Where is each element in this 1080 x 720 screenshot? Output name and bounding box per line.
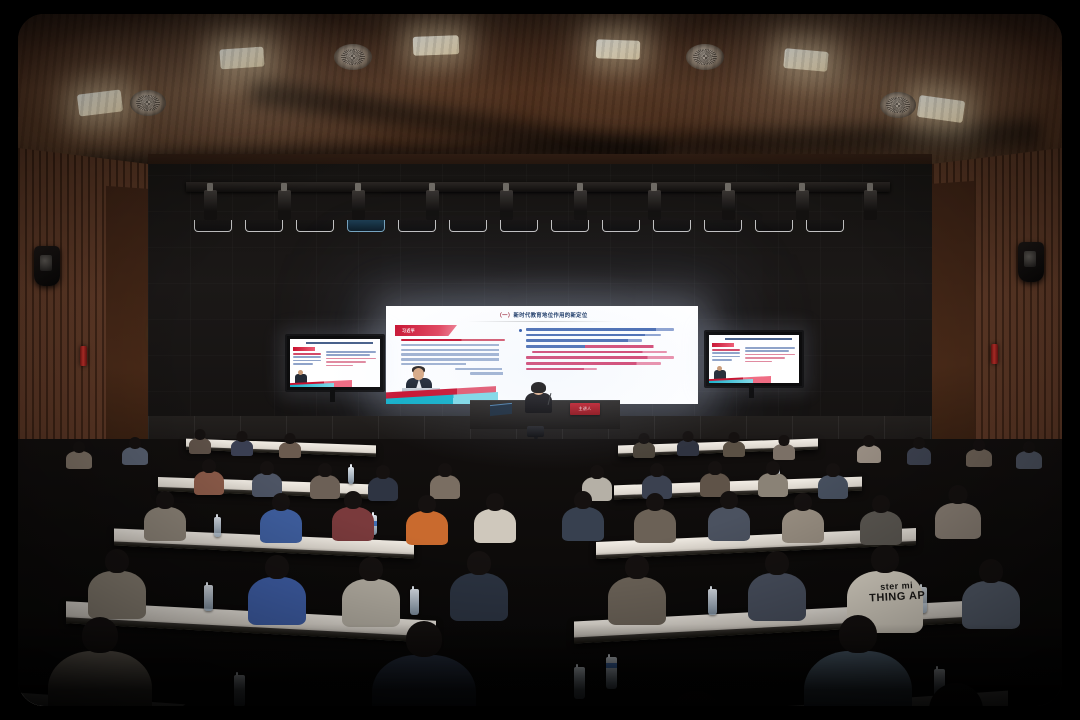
audience-member	[124, 437, 146, 463]
water-bottle	[204, 585, 213, 611]
person-head	[195, 429, 206, 440]
quote-line	[401, 358, 505, 360]
truss-fixture	[204, 190, 217, 220]
audience-member	[94, 549, 140, 615]
mini-portrait-head	[717, 366, 722, 371]
ceiling-vent-1	[130, 90, 166, 116]
person-body	[962, 581, 1020, 629]
person-body	[677, 440, 699, 456]
slide-title-text: 新时代教育地位作用的新定位	[514, 313, 588, 319]
stage-lightbar	[296, 220, 334, 232]
name-placard-text: 主讲人	[570, 403, 600, 415]
quote-line	[401, 339, 505, 341]
mini-line	[293, 356, 321, 358]
stage-lightbar	[194, 220, 232, 232]
person-body	[66, 451, 92, 469]
person-head	[729, 432, 740, 443]
person-head	[467, 551, 491, 575]
person-body	[279, 442, 301, 458]
video-camera-icon	[527, 426, 544, 437]
quote-line	[401, 344, 505, 346]
audience-member	[432, 463, 458, 497]
person-body	[708, 507, 750, 541]
person-head	[794, 493, 812, 511]
ceiling-vent-3	[686, 44, 724, 70]
mini-portrait-body	[714, 370, 726, 379]
audience-member	[724, 432, 744, 456]
bullet-dot-icon	[519, 329, 522, 332]
right-monitor-content	[709, 335, 799, 383]
mini-quote-banner	[293, 347, 315, 351]
stage-lightbar	[602, 220, 640, 232]
person-head	[344, 491, 362, 509]
quote-banner: 习近平	[395, 325, 457, 336]
person-body	[758, 473, 788, 497]
ceiling-light-1	[77, 89, 123, 116]
mini-line	[326, 351, 376, 353]
person-body	[723, 441, 745, 457]
conference-hall-photo: ⇥ ⇥	[18, 14, 1062, 706]
person-body	[966, 449, 992, 467]
person-body	[194, 471, 224, 495]
person-head	[683, 431, 694, 442]
person-head	[639, 433, 650, 444]
ceiling-vent-2	[334, 44, 372, 70]
person-head	[105, 549, 129, 573]
person-head	[779, 435, 790, 446]
person-body	[782, 509, 824, 543]
person-head	[766, 461, 780, 475]
audience-member	[864, 495, 898, 543]
audience-member	[1018, 441, 1040, 467]
truss-fixture	[278, 190, 291, 220]
truss-fixture	[796, 190, 809, 220]
person-body	[562, 507, 604, 541]
person-body	[818, 475, 848, 499]
wall-speaker-right	[1018, 242, 1044, 282]
presenter-hair	[531, 382, 546, 393]
right-confidence-monitor[interactable]	[704, 330, 804, 388]
truss-fixture	[500, 190, 513, 220]
audience-member	[410, 495, 444, 543]
mini-line	[712, 356, 740, 358]
person-head	[590, 465, 604, 479]
person-head	[359, 557, 383, 581]
stage-lightbar	[653, 220, 691, 232]
person-head	[826, 463, 840, 477]
person-body	[860, 511, 902, 545]
fire-extinguisher-right	[991, 344, 998, 364]
audience-member	[858, 435, 880, 461]
person-body	[935, 503, 981, 539]
mini-line	[745, 357, 785, 359]
person-head	[872, 495, 890, 513]
truss-fixture	[352, 190, 365, 220]
ceiling-light-6	[917, 95, 966, 123]
audience-member	[774, 435, 794, 459]
person-body	[231, 440, 253, 456]
ceiling-vent-4	[880, 92, 916, 118]
stage-lightbar	[500, 220, 538, 232]
presenter-laptop	[490, 403, 512, 416]
person-head	[979, 559, 1003, 583]
audience-member	[638, 493, 672, 541]
mini-line	[326, 358, 376, 360]
stage-lightbar	[551, 220, 589, 232]
audience-member	[456, 551, 502, 617]
mini-left-column	[293, 353, 321, 367]
person-head	[765, 551, 789, 575]
person-head	[418, 495, 436, 513]
person-body	[368, 477, 398, 501]
mini-line	[745, 347, 795, 349]
water-bottle	[348, 467, 354, 484]
slide-title-number: （一）	[496, 313, 513, 319]
person-head	[318, 463, 332, 477]
person-head	[260, 461, 274, 475]
slide-text-line	[526, 334, 661, 337]
mini-slide-title	[725, 338, 792, 340]
slide-quote-card: 习近平	[395, 325, 511, 397]
audience-member	[634, 433, 654, 457]
person-head	[129, 437, 141, 449]
slide-text-line	[532, 351, 667, 354]
audience-member	[348, 557, 394, 623]
audience-member	[702, 461, 728, 495]
audience-member	[68, 441, 90, 467]
mini-line	[712, 349, 740, 351]
stage-lightbar	[398, 220, 436, 232]
right-monitor-mount	[749, 384, 754, 398]
audience-member	[754, 551, 800, 617]
person-body	[332, 507, 374, 541]
audience-member	[264, 493, 298, 541]
mini-line	[293, 353, 321, 355]
person-head	[1023, 441, 1035, 453]
mini-left-column	[712, 349, 740, 363]
slide-bullet-1	[526, 328, 687, 342]
audience-member	[968, 439, 990, 465]
audience-member	[786, 493, 820, 541]
person-head	[265, 555, 289, 579]
person-body	[144, 507, 186, 541]
name-placard: 主讲人	[570, 403, 600, 415]
mini-quote-banner	[712, 343, 734, 347]
person-body	[248, 577, 306, 625]
truss-fixture	[722, 190, 735, 220]
slide-text-line	[526, 328, 674, 331]
person-body	[189, 438, 211, 454]
quote-line	[401, 353, 505, 355]
person-body	[260, 509, 302, 543]
quote-attribution-line	[470, 372, 505, 374]
mini-portrait	[293, 369, 310, 383]
audience-member	[280, 433, 300, 457]
person-head	[949, 485, 968, 504]
audience-floor: ster mi THING AP	[18, 439, 1062, 706]
mini-portrait	[712, 365, 729, 379]
audience-member	[820, 463, 846, 497]
stage-lightbar	[245, 220, 283, 232]
audience-member	[370, 465, 396, 499]
audience-member	[678, 431, 698, 455]
ceiling-light-5	[783, 48, 829, 72]
audience-member	[254, 461, 280, 495]
person-head	[237, 431, 248, 442]
presenter	[518, 382, 558, 414]
mini-portrait-body	[295, 374, 307, 383]
audience-member	[478, 493, 512, 541]
screenshot-root: ⇥ ⇥	[0, 0, 1080, 720]
person-body	[634, 509, 676, 543]
mini-line	[712, 352, 740, 354]
truss-fixture	[574, 190, 587, 220]
mini-line	[745, 354, 795, 356]
mini-portrait-head	[298, 370, 303, 375]
mini-line	[293, 360, 321, 362]
truss-fixture	[648, 190, 661, 220]
foreground-shadow	[18, 624, 1062, 706]
water-bottle	[214, 517, 221, 537]
person-head	[376, 465, 390, 479]
mini-right-column	[745, 347, 795, 364]
person-body	[88, 571, 146, 619]
person-body	[1016, 451, 1042, 469]
person-head	[202, 459, 216, 473]
person-body	[450, 573, 508, 621]
audience-member	[760, 461, 786, 495]
person-head	[156, 491, 174, 509]
audience-member	[336, 491, 370, 539]
left-confidence-monitor[interactable]	[285, 334, 385, 392]
stage-lightbar	[755, 220, 793, 232]
mini-line	[745, 361, 772, 363]
audience-member	[148, 491, 182, 539]
shirt-graphic-text: ster mi THING AP	[863, 579, 930, 605]
audience-member	[254, 555, 300, 621]
audience-member	[712, 491, 746, 539]
slide-text-line	[526, 339, 642, 342]
person-head	[650, 463, 664, 477]
person-body	[122, 447, 148, 465]
person-body	[633, 442, 655, 458]
wall-speaker-left	[34, 246, 60, 286]
stage-lightbar	[347, 220, 385, 232]
quote-attribution-line	[455, 368, 505, 370]
left-monitor-mount	[330, 388, 335, 402]
left-monitor-content	[290, 339, 380, 387]
stage-lightbar	[704, 220, 742, 232]
audience-member	[908, 437, 930, 463]
slide-text-line	[526, 356, 674, 359]
audience-member	[190, 429, 210, 453]
slide-text-line	[526, 368, 597, 371]
person-body	[474, 509, 516, 543]
portrait-head	[413, 368, 424, 380]
audience-member	[566, 491, 600, 539]
mini-line	[712, 359, 732, 361]
fire-extinguisher-left	[80, 346, 87, 366]
truss-fixture	[426, 190, 439, 220]
slide-text-line	[526, 345, 674, 348]
ceiling-light-4	[596, 39, 641, 60]
person-head	[973, 439, 985, 451]
ceiling-light-3	[413, 35, 460, 56]
mini-line	[293, 363, 313, 365]
person-body	[857, 445, 881, 463]
audience-member	[644, 463, 670, 497]
audience-member	[940, 485, 976, 537]
slide-bullet-2	[526, 345, 687, 370]
truss-fixture	[864, 190, 877, 220]
quote-line	[401, 349, 505, 351]
person-head	[720, 491, 738, 509]
lighting-truss	[186, 182, 890, 192]
audience-member	[196, 459, 222, 493]
person-head	[646, 493, 664, 511]
ceiling-light-2	[219, 46, 264, 69]
mini-line	[745, 350, 789, 352]
quote-banner-label: 习近平	[402, 328, 415, 334]
stage-lightbar	[806, 220, 844, 232]
person-body	[907, 447, 931, 465]
audience-member	[232, 431, 252, 455]
person-head	[863, 435, 875, 447]
slide-body-column	[526, 328, 687, 374]
person-head	[625, 555, 649, 579]
person-body	[406, 511, 448, 545]
person-body	[748, 573, 806, 621]
mini-right-column	[326, 351, 376, 368]
mini-line	[326, 361, 366, 363]
slide-title: （一）新时代教育地位作用的新定位	[386, 311, 698, 319]
water-bottle	[410, 589, 419, 615]
person-head	[285, 433, 296, 444]
person-head	[73, 441, 85, 453]
stage-lightbar	[449, 220, 487, 232]
person-head	[438, 463, 452, 477]
mini-line	[326, 354, 370, 356]
slide-text-line	[526, 362, 661, 365]
mini-slide-title	[306, 342, 373, 344]
person-head	[272, 493, 290, 511]
person-body	[608, 577, 666, 625]
person-head	[871, 545, 899, 573]
person-body	[773, 444, 795, 460]
audience-member	[968, 559, 1014, 625]
mini-line	[326, 365, 353, 367]
audience-member	[312, 463, 338, 497]
person-body	[342, 579, 400, 627]
person-head	[486, 493, 504, 511]
person-head	[913, 437, 925, 449]
person-head	[708, 461, 722, 475]
person-head	[574, 491, 592, 509]
water-bottle	[708, 589, 717, 615]
audience-member	[614, 555, 660, 621]
slide-title-rule	[467, 321, 617, 322]
